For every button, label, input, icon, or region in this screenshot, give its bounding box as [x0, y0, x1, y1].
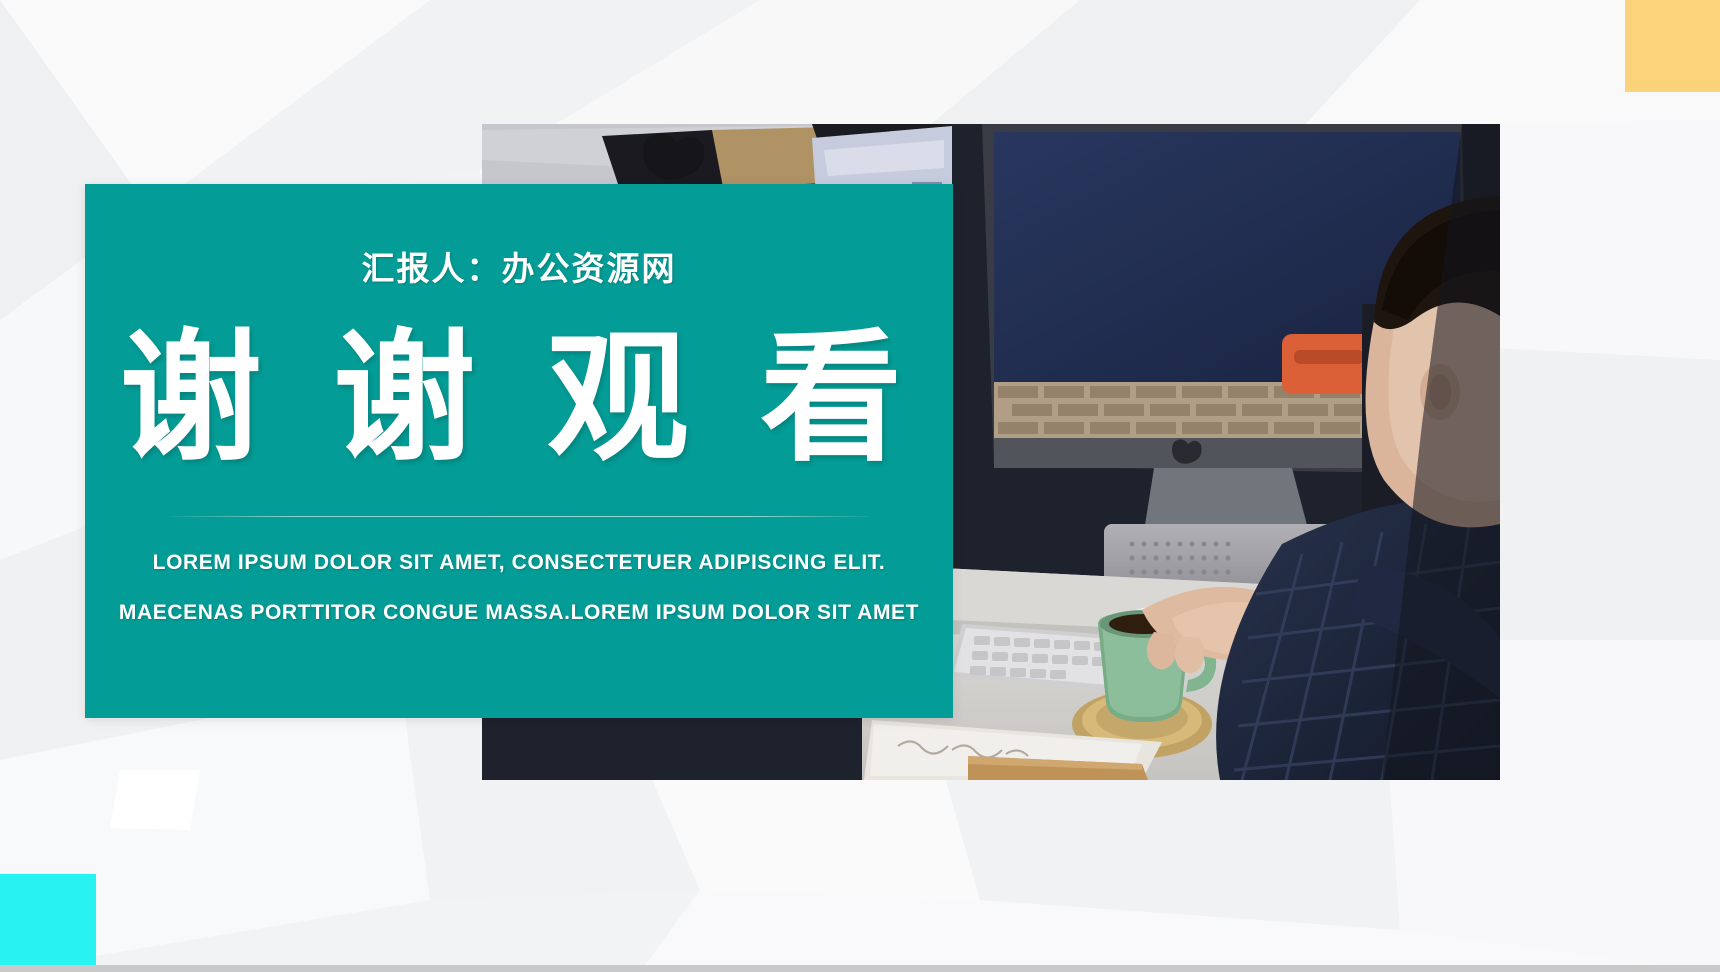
presentation-slide: 汇报人：办公资源网 谢 谢 观 看 LOREM IPSUM DOLOR SIT …: [0, 0, 1720, 972]
bottom-strip: [0, 965, 1720, 972]
divider: [169, 516, 869, 517]
subtitle-line-2: MAECENAS PORTTITOR CONGUE MASSA.LOREM IP…: [85, 601, 953, 625]
subtitle-line-1: LOREM IPSUM DOLOR SIT AMET, CONSECTETUER…: [85, 551, 953, 575]
presenter-label: 汇报人：办公资源网: [362, 242, 677, 290]
accent-square-cyan: [0, 874, 96, 966]
page-title: 谢 谢 观 看: [120, 328, 918, 470]
subtitle-block: LOREM IPSUM DOLOR SIT AMET, CONSECTETUER…: [85, 551, 953, 625]
accent-square-yellow: [1625, 0, 1720, 92]
thank-you-panel: 汇报人：办公资源网 谢 谢 观 看 LOREM IPSUM DOLOR SIT …: [85, 184, 953, 718]
